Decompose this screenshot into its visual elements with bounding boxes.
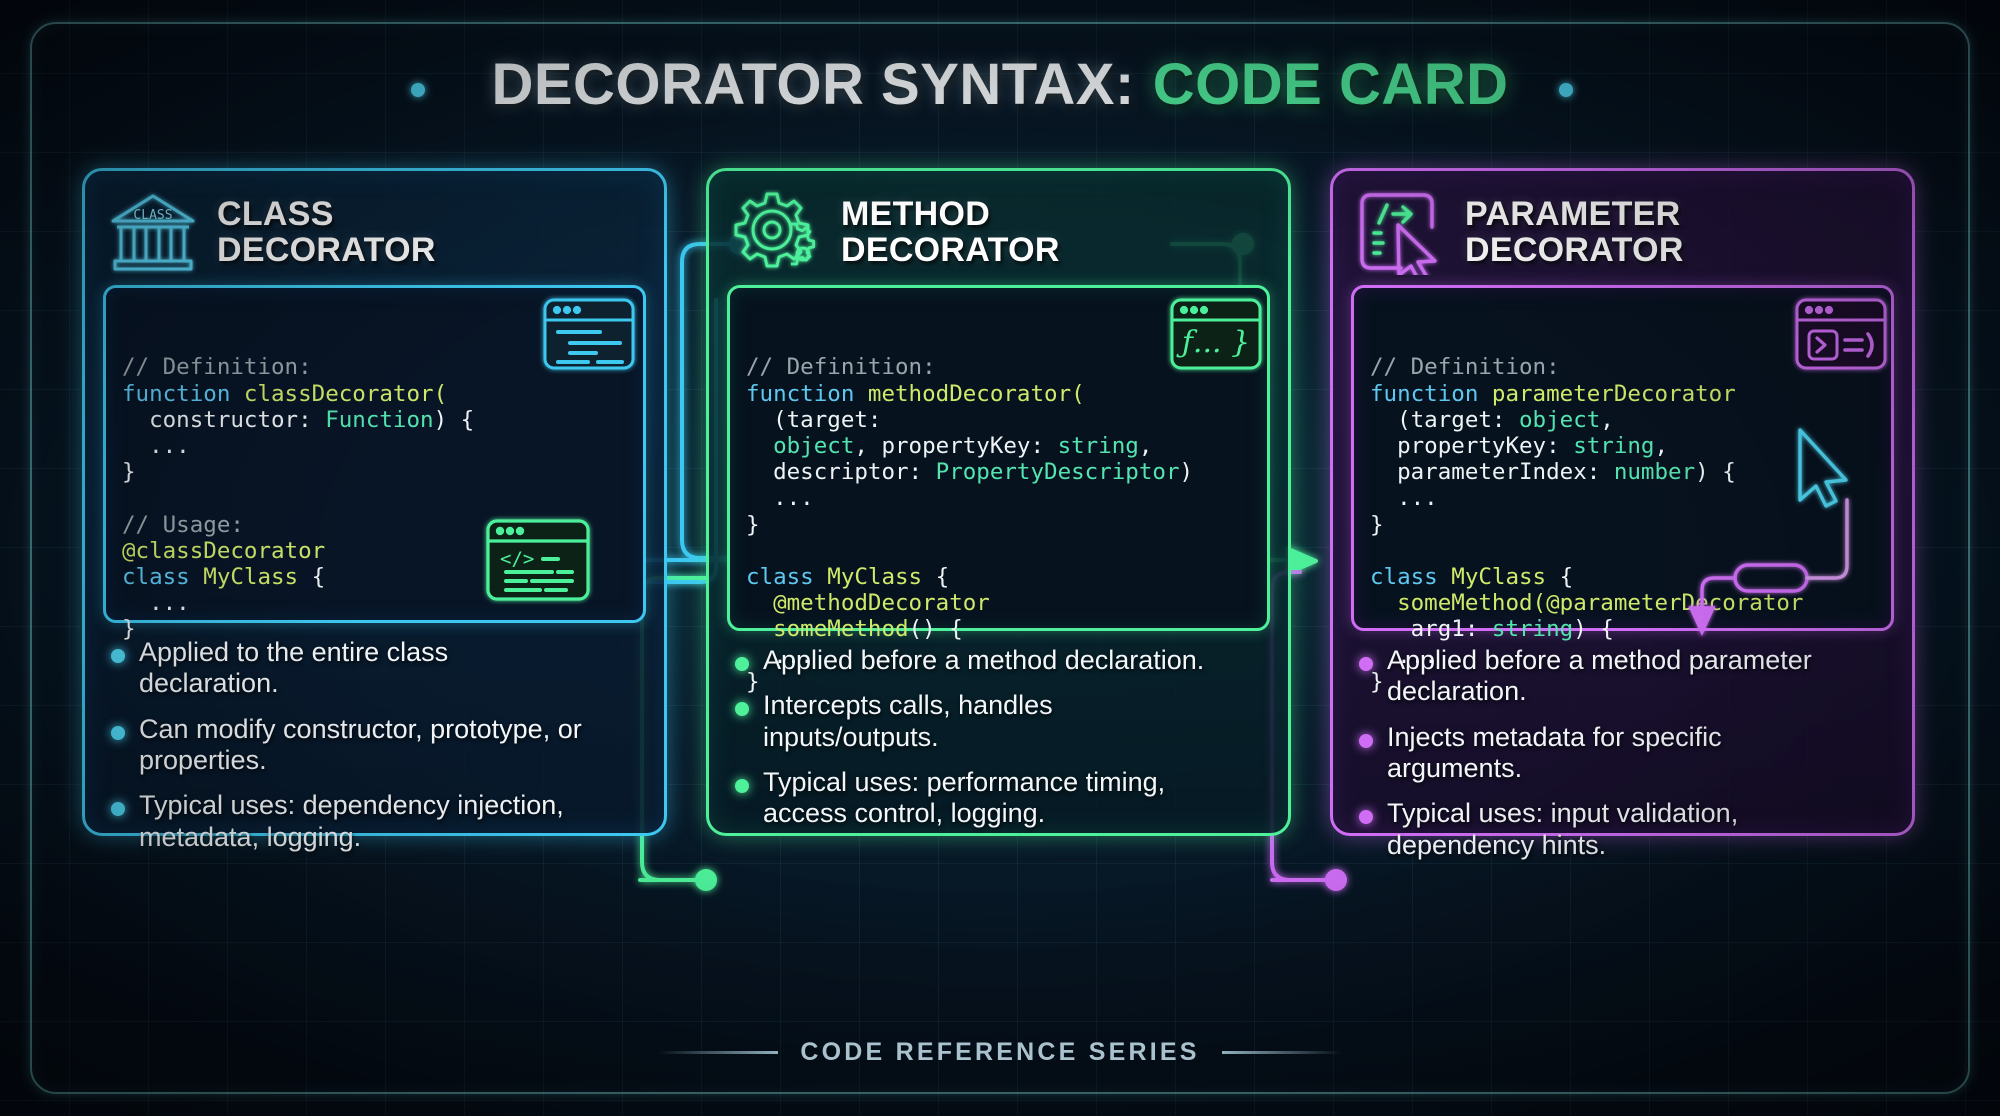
title-main: DECORATOR SYNTAX: (491, 51, 1134, 118)
code-line: ... (1370, 485, 1875, 511)
code-line: // Definition: (1370, 354, 1875, 380)
code-line: ... (122, 433, 627, 459)
card-header: CLASS CLASS DECORATOR (85, 171, 664, 279)
list-item: Typical uses: input validation, dependen… (1359, 798, 1892, 861)
code-line: (target: object, (1370, 407, 1875, 433)
card-title: CLASS DECORATOR (217, 196, 436, 268)
code-line: // Definition: (122, 354, 627, 380)
code-line: arg1: string) { (1370, 616, 1875, 642)
code-line (122, 485, 627, 511)
code-line: ... (746, 643, 1251, 669)
bullet-dot (111, 726, 125, 740)
gears-icon (731, 189, 823, 275)
code-window-cursor-icon (1355, 189, 1447, 275)
classical-building-icon: CLASS (107, 189, 199, 275)
code-line: ... (1370, 643, 1875, 669)
code-line: ... (122, 590, 627, 616)
code-line: } (746, 669, 1251, 695)
code-line: class MyClass { (122, 564, 627, 590)
code-block-method: // Definition:function methodDecorator( … (727, 285, 1270, 631)
code-line: function parameterDecorator (1370, 381, 1875, 407)
code-line: ... (746, 485, 1251, 511)
footer-rule-right (1222, 1051, 1342, 1054)
footer: CODE REFERENCE SERIES (0, 1038, 2000, 1067)
code-line: descriptor: PropertyDescriptor) (746, 459, 1251, 485)
code-line: parameterIndex: number) { (1370, 459, 1875, 485)
code-line: } (122, 459, 627, 485)
card-title: PARAMETER DECORATOR (1465, 196, 1684, 268)
card-header: METHOD DECORATOR (709, 171, 1288, 279)
footer-label: CODE REFERENCE SERIES (800, 1038, 1199, 1067)
code-line: // Usage: (122, 512, 627, 538)
code-line: class MyClass { (1370, 564, 1875, 590)
code-line: propertyKey: string, (1370, 433, 1875, 459)
footer-rule-left (658, 1051, 778, 1054)
list-item: Typical uses: dependency injection, meta… (111, 790, 644, 853)
list-item: Typical uses: performance timing, access… (735, 767, 1268, 830)
code-block-class: // Definition:function classDecorator( c… (103, 285, 646, 623)
card-header: PARAMETER DECORATOR (1333, 171, 1912, 279)
code-line: @methodDecorator (746, 590, 1251, 616)
card-class-decorator[interactable]: CLASS CLASS DECORATOR // Definition:func… (82, 168, 667, 836)
code-line: object, propertyKey: string, (746, 433, 1251, 459)
code-line: function methodDecorator( (746, 381, 1251, 407)
code-line: // Definition: (746, 354, 1251, 380)
code-line: someMethod(@parameterDecorator (1370, 590, 1875, 616)
code-line: class MyClass { (746, 564, 1251, 590)
card-parameter-decorator[interactable]: PARAMETER DECORATOR // Definition:functi… (1330, 168, 1915, 836)
code-block-parameter: // Definition:function parameterDecorato… (1351, 285, 1894, 631)
card-method-decorator[interactable]: METHOD DECORATOR // Definition:function … (706, 168, 1291, 836)
card-title: METHOD DECORATOR (841, 196, 1060, 268)
code-line: } (1370, 669, 1875, 695)
code-line: constructor: Function) { (122, 407, 627, 433)
list-item: Can modify constructor, prototype, or pr… (111, 714, 644, 777)
code-line: } (746, 512, 1251, 538)
code-line: } (122, 616, 627, 642)
code-line: (target: (746, 407, 1251, 433)
title-accent: CODE CARD (1153, 51, 1509, 118)
code-line (746, 538, 1251, 564)
code-line: @classDecorator (122, 538, 627, 564)
bullet-dot (735, 779, 749, 793)
code-line (1370, 538, 1875, 564)
page-title: DECORATOR SYNTAX: CODE CARD (0, 48, 2000, 120)
class-icon-label: CLASS (133, 208, 172, 223)
bullet-dot (1359, 810, 1373, 824)
bullet-dot (111, 802, 125, 816)
code-line: someMethod() { (746, 616, 1251, 642)
code-line: function classDecorator( (122, 381, 627, 407)
code-line: } (1370, 512, 1875, 538)
